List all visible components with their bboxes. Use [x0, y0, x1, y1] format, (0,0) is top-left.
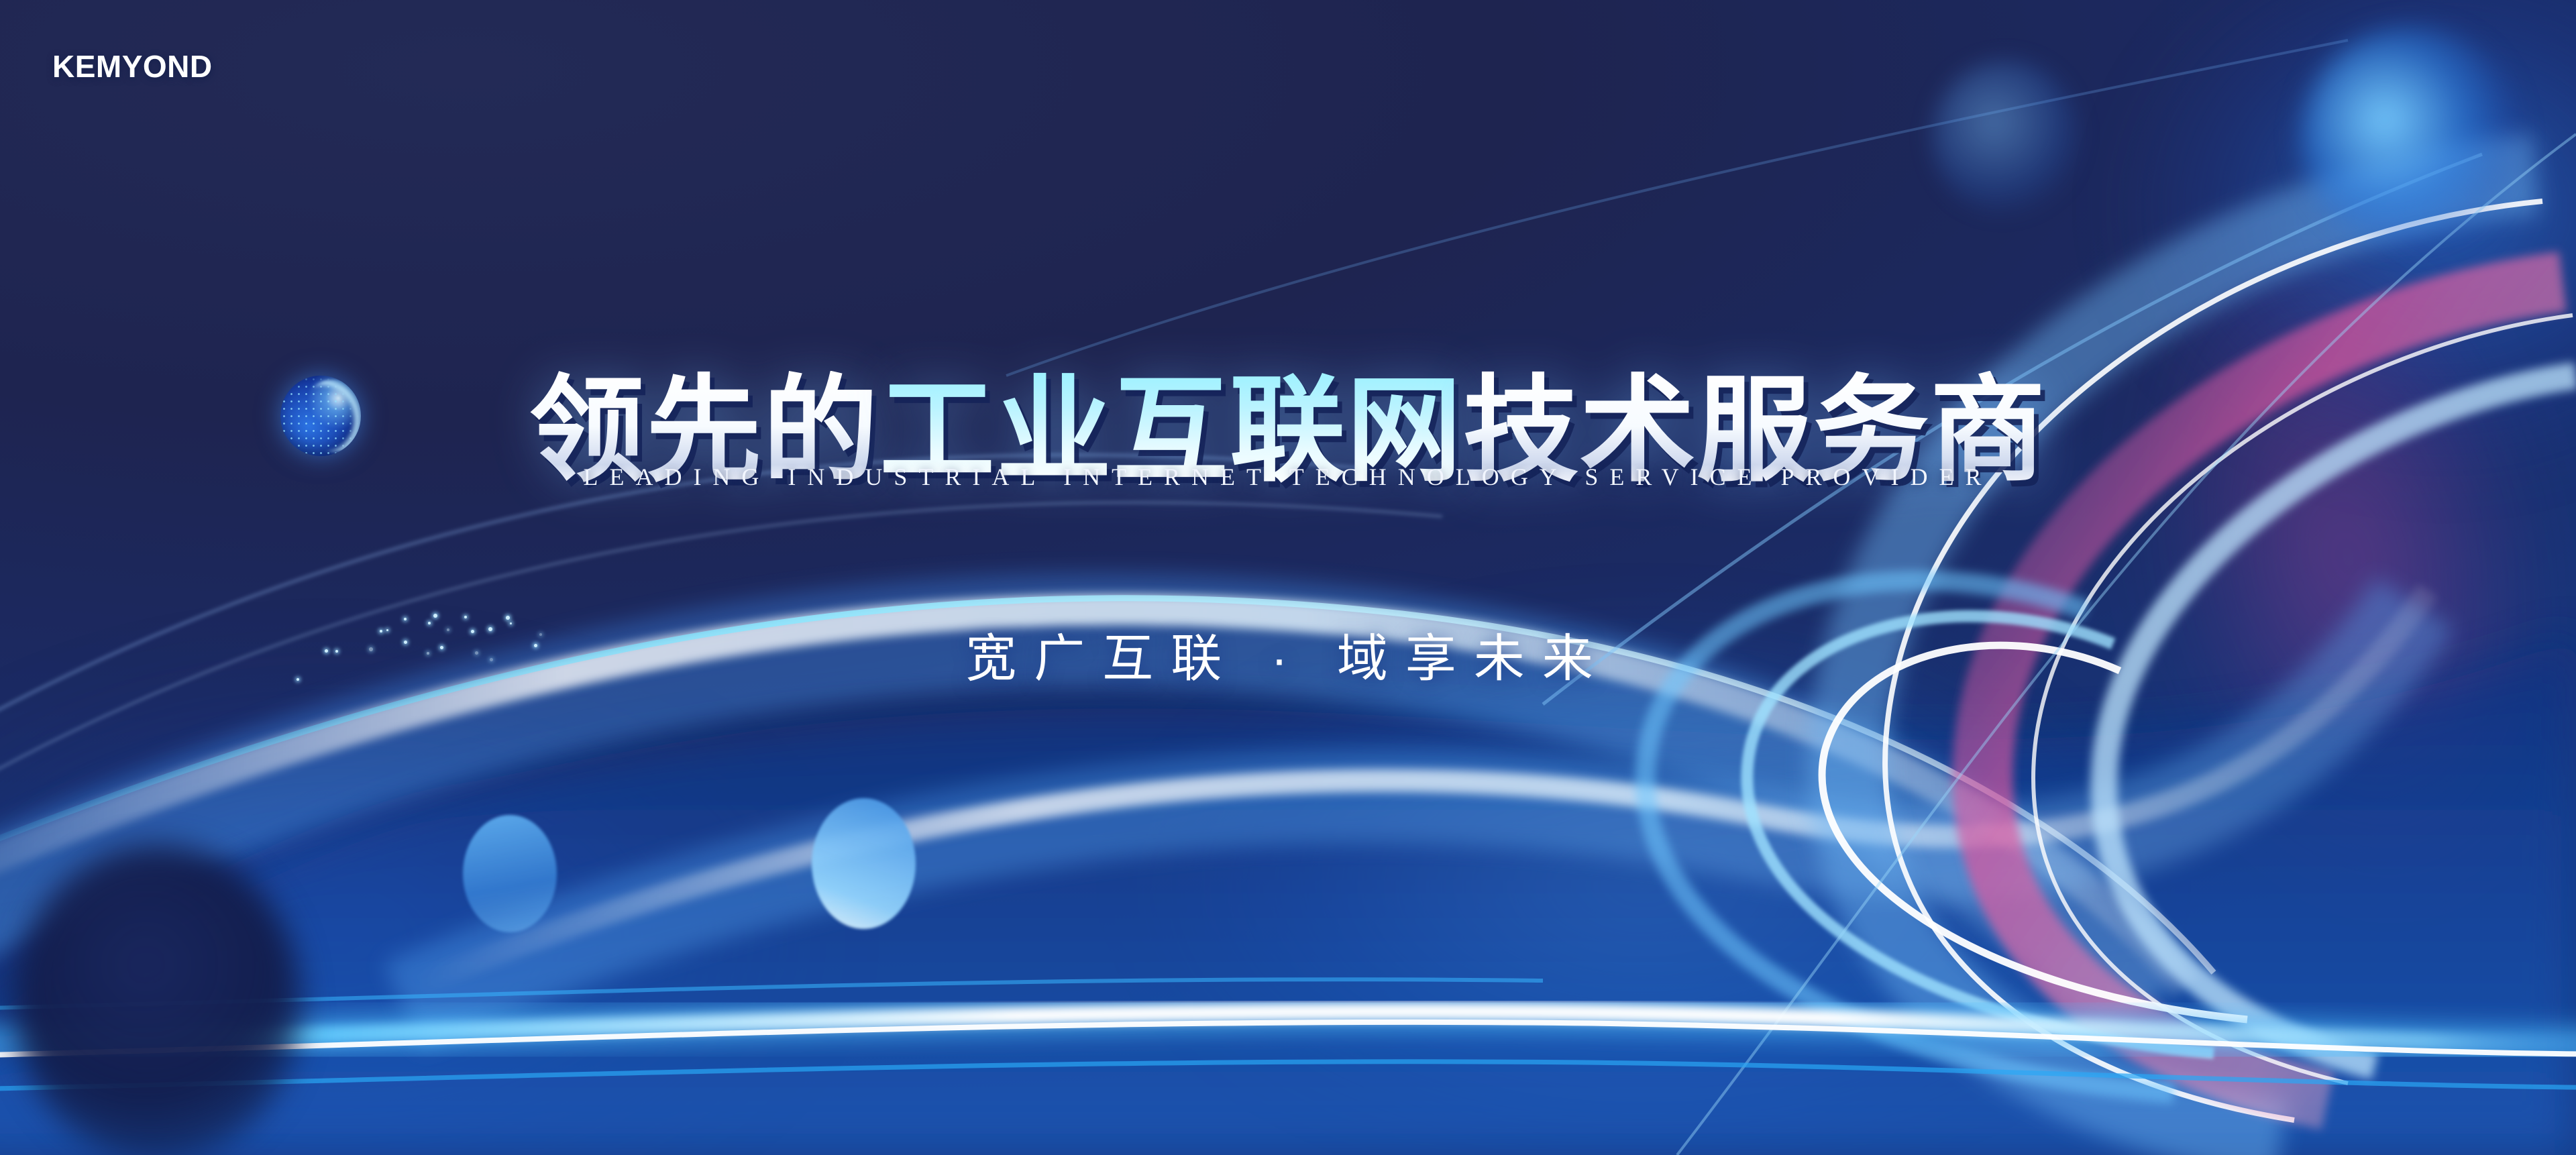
promo-banner: KEMYOND 领先的工业互联网技术服务商 LEADING INDUSTRIAL… — [0, 0, 2576, 1155]
subtitle-english: LEADING INDUSTRIAL INTERNET TECHNOLOGY S… — [0, 463, 2576, 491]
tagline: 宽广互联 · 域享未来 — [0, 617, 2576, 691]
text-content: KEMYOND 领先的工业互联网技术服务商 LEADING INDUSTRIAL… — [0, 0, 2576, 1155]
brand-logo[interactable]: KEMYOND — [52, 48, 213, 85]
